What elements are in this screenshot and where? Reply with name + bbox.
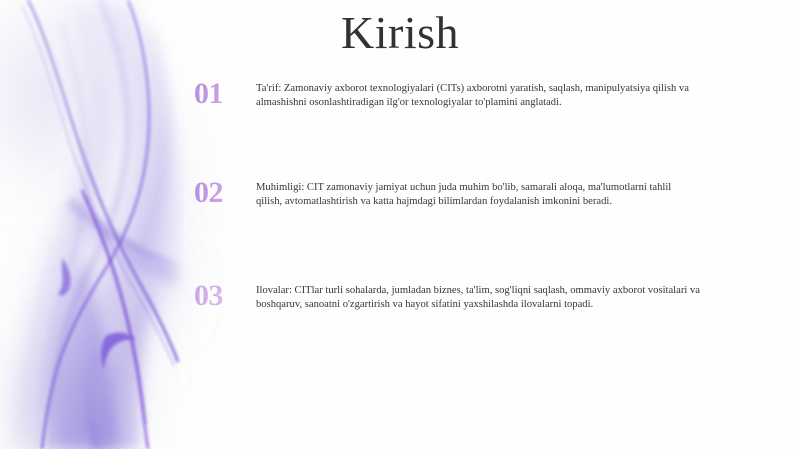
point-text-02: Muhimligi: CIT zamonaviy jamiyat uchun j… — [256, 177, 694, 209]
smoke-strand-2 — [42, 0, 149, 449]
smoke-fan-mid-lower — [60, 206, 176, 284]
list-item: 01 Ta'rif: Zamonaviy axborot texnologiya… — [194, 78, 754, 110]
smoke-accent-core — [86, 196, 146, 424]
smoke-whisp-right — [148, 120, 171, 318]
smoke-strand-3 — [50, 0, 128, 449]
point-text-03: Ilovalar: CITlar turli sohalarda, jumlad… — [256, 280, 742, 312]
list-item: 03 Ilovalar: CITlar turli sohalarda, jum… — [194, 280, 754, 312]
presentation-slide: Kirish 01 Ta'rif: Zamonaviy axborot texn… — [0, 0, 800, 449]
page-title: Kirish — [0, 4, 800, 62]
smoke-fan-mid — [66, 196, 182, 266]
smoke-curl-tail — [85, 344, 104, 449]
decor-wash-middle — [20, 180, 190, 400]
decor-wash-mid-right — [85, 60, 205, 360]
decorative-smoke-ribbon-graphic — [0, 0, 190, 449]
smoke-lobe-bottom — [49, 258, 118, 449]
decor-wash-bottom — [0, 300, 155, 449]
point-number-01: 01 — [194, 78, 250, 110]
smoke-veil-right — [60, 0, 169, 449]
smoke-accent-bright — [82, 190, 148, 449]
point-text-01: Ta'rif: Zamonaviy axborot texnologiyalar… — [256, 78, 700, 110]
point-number-02: 02 — [194, 177, 250, 209]
smoke-curl-lower — [101, 333, 136, 370]
smoke-whisp-topright — [134, 30, 165, 268]
list-item: 02 Muhimligi: CIT zamonaviy jamiyat uchu… — [194, 177, 754, 209]
smoke-ribbon-svg — [0, 0, 190, 449]
smoke-lobe-bottom-right — [96, 292, 150, 449]
point-number-03: 03 — [194, 280, 250, 312]
smoke-strand-4 — [38, 20, 86, 449]
smoke-curl-upper — [58, 258, 71, 296]
smoke-veil-left — [18, 0, 115, 449]
